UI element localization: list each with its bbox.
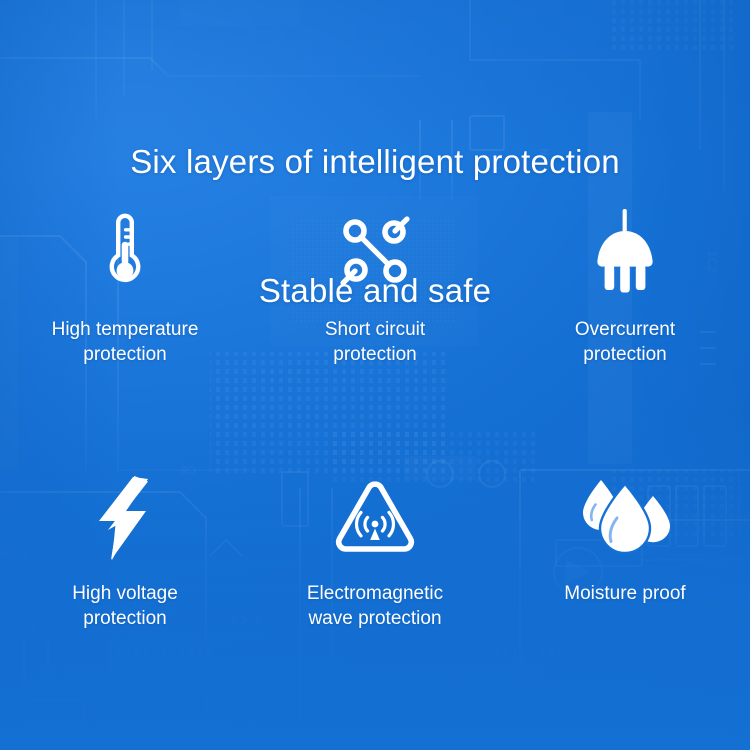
lightning-bolt-icon <box>96 475 154 561</box>
feature-label: Electromagnetic wave protection <box>307 581 443 631</box>
feature-item-high-temperature: High temperature protection <box>0 205 250 475</box>
power-plug-icon <box>590 205 660 297</box>
feature-label: Moisture proof <box>564 581 685 606</box>
feature-item-moisture-proof: Moisture proof <box>500 475 750 685</box>
feature-label: High temperature protection <box>52 317 199 367</box>
short-circuit-icon <box>337 205 413 297</box>
feature-item-high-voltage: High voltage protection <box>0 475 250 685</box>
feature-label: High voltage protection <box>72 581 178 631</box>
feature-item-overcurrent: Overcurrent protection <box>500 205 750 475</box>
feature-label: Short circuit protection <box>325 317 425 367</box>
page-title-line-1: Six layers of intelligent protection <box>0 140 750 183</box>
emi-warning-triangle-icon <box>334 475 416 561</box>
feature-item-short-circuit: Short circuit protection <box>250 205 500 475</box>
feature-grid: High temperature protection <box>0 205 750 685</box>
thermometer-icon <box>97 205 153 297</box>
feature-item-electromagnetic-wave: Electromagnetic wave protection <box>250 475 500 685</box>
water-droplets-icon <box>577 475 673 561</box>
feature-label: Overcurrent protection <box>575 317 675 367</box>
promo-banner: 32X8 N/8 3-2-1 C8 V-CA EEA IC2 B1 Six la… <box>0 0 750 750</box>
